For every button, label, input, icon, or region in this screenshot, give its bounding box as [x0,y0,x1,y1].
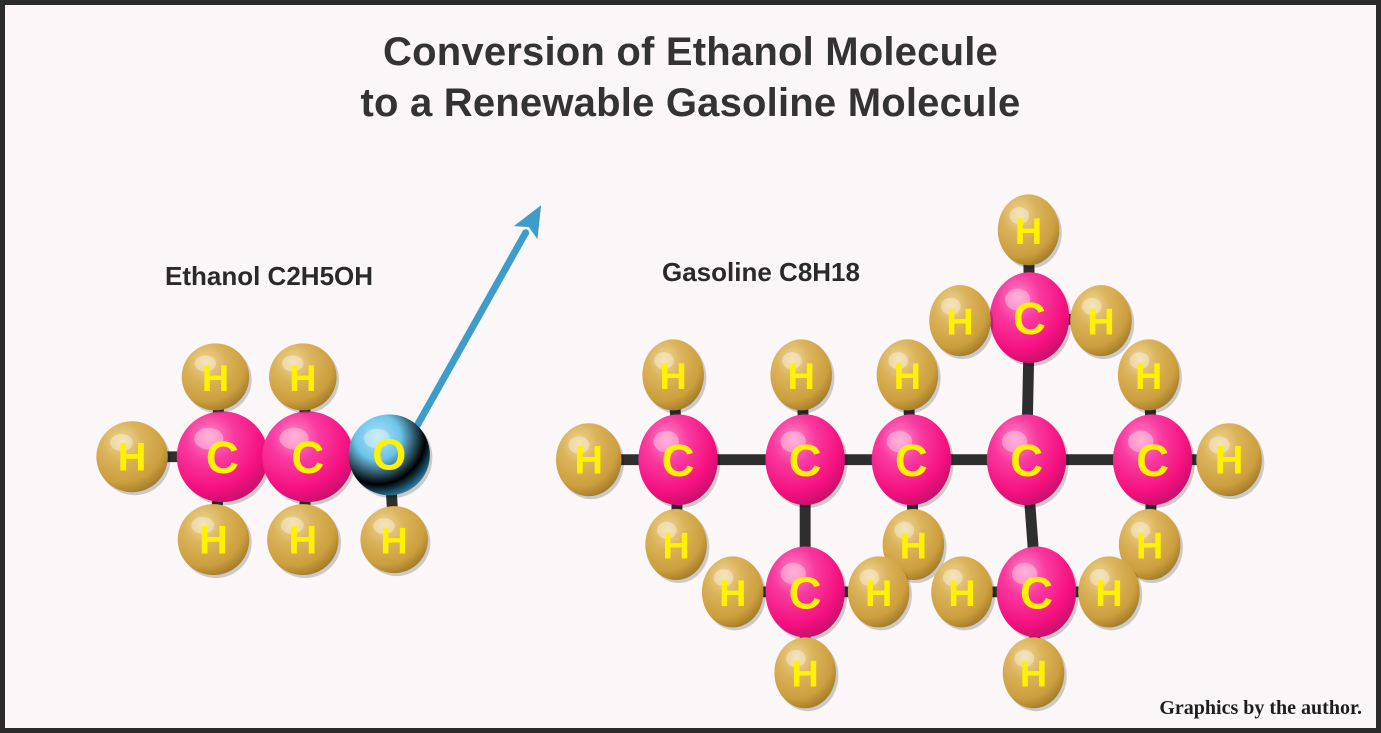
atom-sphere-hydrogen [931,556,993,627]
atom-hydrogen: H [267,504,341,578]
atom-highlight [1090,569,1110,586]
atom-carbon: C [990,272,1072,366]
atom-highlight [195,355,217,371]
atom-highlight [279,428,308,450]
atom-hydrogen: H [929,285,993,359]
atom-hydrogen: H [1196,423,1264,499]
atom-hydrogen: H [1118,339,1182,413]
gasoline-label: Gasoline C8H18 [662,257,860,288]
atom-highlight [1128,431,1153,453]
atom-sphere-carbon [990,272,1069,363]
atom-carbon: C [638,414,720,508]
atom-carbon: C [997,547,1079,641]
atom-highlight [1209,436,1230,454]
atom-highlight [191,517,214,534]
atom-highlight [894,522,914,539]
conversion-arrow [414,205,541,431]
atom-sphere-hydrogen [269,343,337,410]
atom-hydrogen: H [269,343,339,413]
atom-highlight [653,431,678,453]
atom-hydrogen: H [1070,285,1134,359]
atom-highlight [888,352,908,369]
atom-hydrogen: H [998,194,1062,268]
atom-highlight [281,517,304,534]
atom-sphere-hydrogen [848,556,910,627]
atom-highlight [781,563,806,585]
atom-sphere-carbon [987,414,1066,505]
atom-sphere-hydrogen [1196,423,1262,496]
atom-highlight [943,569,963,586]
atom-highlight [282,355,304,371]
atom-highlight [1002,431,1027,453]
atom-highlight [786,650,806,667]
arrow-shaft [414,233,526,431]
atom-sphere-hydrogen [182,343,250,410]
atom-highlight [110,434,133,451]
atom-sphere-carbon [765,414,844,505]
atom-carbon: C [987,414,1069,508]
atom-hydrogen: H [931,556,995,630]
atom-highlight [941,298,961,315]
atom-highlight [782,352,802,369]
atom-highlight [1014,650,1034,667]
atom-highlight [568,436,589,454]
atom-highlight [887,431,912,453]
atom-sphere-hydrogen [1118,339,1180,410]
atom-highlight [860,569,880,586]
atom-carbon: C [262,411,356,505]
atom-sphere-hydrogen [360,506,428,573]
atom-hydrogen: H [556,423,624,499]
atom-hydrogen: H [877,339,941,413]
atom-sphere-hydrogen [1003,637,1065,708]
atom-sphere-hydrogen [556,423,622,496]
atom-carbon: C [177,411,271,505]
atom-sphere-carbon [638,414,717,505]
atom-carbon: C [765,547,847,641]
atom-sphere-hydrogen [770,339,832,410]
atom-highlight [1012,563,1037,585]
atom-sphere-hydrogen [998,194,1060,265]
credit-text: Graphics by the author. [1159,697,1362,720]
atom-sphere-hydrogen [645,509,707,580]
atom-highlight [1130,352,1150,369]
atom-sphere-hydrogen [702,556,764,627]
atom-highlight [781,431,806,453]
atom-sphere-hydrogen [96,421,167,492]
atom-hydrogen: H [642,339,706,413]
atom-highlight [1131,522,1151,539]
diagram-canvas: Conversion of Ethanol Molecule to a Rene… [0,0,1381,733]
atom-sphere-hydrogen [774,637,836,708]
atom-highlight [1009,207,1029,224]
atom-sphere-hydrogen [1078,556,1140,627]
atom-highlight [1005,289,1030,311]
atom-carbon: C [1113,414,1195,508]
atom-hydrogen: H [774,637,838,711]
atom-sphere-hydrogen [1070,285,1132,356]
atom-sphere-hydrogen [877,339,939,410]
atom-highlight [364,429,390,448]
atom-highlight [373,518,395,534]
atom-sphere-carbon [1113,414,1192,505]
atom-sphere-hydrogen [929,285,991,356]
atom-sphere-carbon [872,414,951,505]
ethanol-label: Ethanol C2H5OH [165,261,373,292]
molecule-scene: HCHHCHHOHHCHHCHCHHCCHHHCHHHCHHHCHHH [5,5,1376,728]
atom-carbon: C [765,414,847,508]
atom-highlight [654,352,674,369]
atom-hydrogen: H [96,421,170,495]
atom-hydrogen: H [702,556,766,630]
atom-hydrogen: H [360,506,430,576]
atom-hydrogen: H [178,504,252,578]
atom-hydrogen: H [1003,637,1067,711]
atom-hydrogen: H [182,343,252,413]
atom-hydrogen: H [645,509,709,583]
atom-hydrogen: H [770,339,834,413]
atom-carbon: C [872,414,954,508]
atom-sphere-carbon [997,547,1076,638]
atom-sphere-hydrogen [642,339,704,410]
atom-highlight [194,428,223,450]
atom-sphere-oxygen [348,414,429,495]
atom-sphere-hydrogen [178,504,249,575]
atom-highlight [714,569,734,586]
atom-sphere-carbon [765,547,844,638]
atom-sphere-carbon [177,411,268,502]
atom-highlight [657,522,677,539]
atom-highlight [1082,298,1102,315]
atom-sphere-carbon [262,411,353,502]
atom-sphere-hydrogen [267,504,338,575]
